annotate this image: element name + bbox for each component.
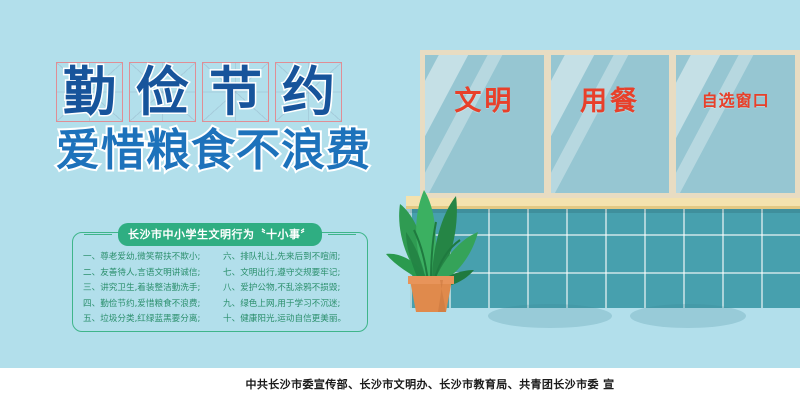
ten-small-things-card: 长沙市中小学生文明行为〝十小事〞 一、尊老爱幼,微笑帮扶不欺小; 二、友善待人,…: [72, 232, 368, 332]
list-item: 七、文明出行,遵守交规要牢记;: [223, 266, 359, 282]
title-grid-cell-4: 约: [275, 62, 342, 122]
title-grid-cell-2: 俭: [129, 62, 196, 122]
footer-bar: 中共长沙市委宣传部、长沙市文明办、长沙市教育局、共青团长沙市委 宣: [0, 368, 800, 400]
list-item: 三、讲究卫生,着装整洁勤洗手;: [83, 281, 219, 297]
poster-subtitle: 爱惜粮食不浪费: [56, 128, 371, 174]
list-column-left: 一、尊老爱幼,微笑帮扶不欺小; 二、友善待人,言语文明讲诚信; 三、讲究卫生,着…: [83, 250, 219, 328]
title-block: 勤 俭 节 约 爱惜粮食不浪费: [56, 62, 371, 174]
list-item: 五、垃圾分类,红绿蓝黑要分离;: [83, 312, 219, 328]
title-char-2: 俭: [130, 63, 195, 121]
title-char-1: 勤: [57, 63, 122, 121]
header-rule-left: [84, 234, 112, 236]
title-char-4: 约: [276, 63, 341, 121]
list-column-right: 六、排队礼让,先来后到不喧闹; 七、文明出行,遵守交规要牢记; 八、爱护公物,不…: [223, 250, 359, 328]
window-label-yongcan: 用餐: [551, 79, 670, 118]
list-item: 八、爱护公物,不乱涂鸦不损毁;: [223, 281, 359, 297]
title-grid-cell-3: 节: [202, 62, 269, 122]
list-item: 一、尊老爱幼,微笑帮扶不欺小;: [83, 250, 219, 266]
footer-credit-text: 中共长沙市委宣传部、长沙市文明办、长沙市教育局、共青团长沙市委 宣: [185, 376, 614, 392]
window-pane-2: 用餐: [551, 55, 670, 193]
list-item: 四、勤俭节约,爱惜粮食不浪费;: [83, 297, 219, 313]
window-pane-3: 自选窗口: [676, 55, 795, 193]
list-item: 二、友善待人,言语文明讲诚信;: [83, 266, 219, 282]
title-char-3: 节: [203, 63, 268, 121]
window-label-zixuanchuangkou: 自选窗口: [676, 87, 795, 111]
card-header: 长沙市中小学生文明行为〝十小事〞: [73, 223, 367, 246]
header-rule-right: [328, 234, 356, 236]
poster-stage: 文明 用餐 自选窗口: [0, 0, 800, 368]
potted-plant: [380, 170, 500, 315]
title-grid-cell-1: 勤: [56, 62, 123, 122]
list-item: 六、排队礼让,先来后到不喧闹;: [223, 250, 359, 266]
title-grid-row: 勤 俭 节 约: [56, 62, 371, 122]
card-header-badge: 长沙市中小学生文明行为〝十小事〞: [118, 223, 322, 246]
window-label-wenming: 文明: [425, 79, 544, 118]
card-body: 一、尊老爱幼,微笑帮扶不欺小; 二、友善待人,言语文明讲诚信; 三、讲究卫生,着…: [83, 250, 359, 328]
list-item: 九、绿色上网,用于学习不沉迷;: [223, 297, 359, 313]
list-item: 十、健康阳光,运动自信更美丽。: [223, 312, 359, 328]
poster-root: 文明 用餐 自选窗口: [0, 0, 800, 400]
plant-pot: [408, 276, 454, 312]
canteen-scene: 文明 用餐 自选窗口: [380, 0, 800, 368]
